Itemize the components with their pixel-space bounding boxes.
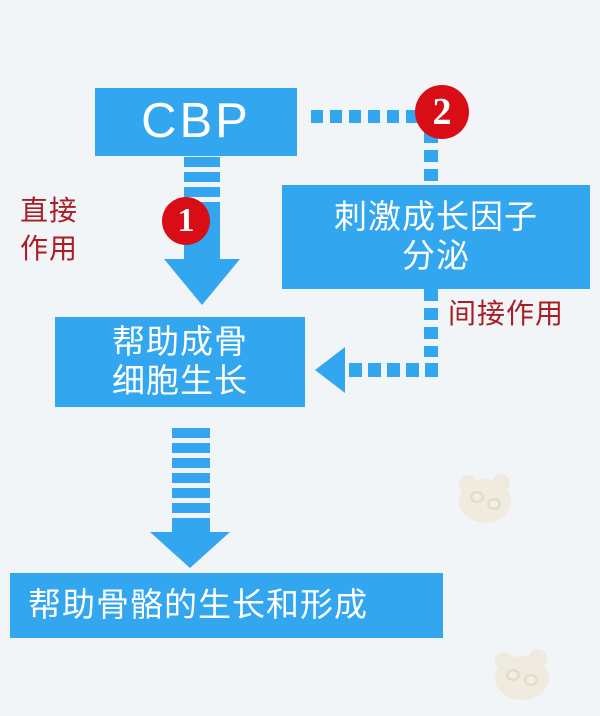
step-badge-2-label: 2 [433,90,452,134]
bear-tablet-icon-1 [455,470,517,533]
box-osteoblast-growth-text: 帮助成骨 细胞生长 [112,323,248,401]
box-osteoblast-growth-line1: 帮助成骨 [112,323,248,360]
box-growth-factor-line1: 刺激成长因子 [334,198,538,235]
box-osteoblast-growth: 帮助成骨 细胞生长 [55,317,305,407]
step-badge-2: 2 [415,85,469,139]
striped-down-arrow-icon-2 [148,428,232,573]
step-badge-1: 1 [162,197,210,245]
box-cbp: CBP [95,88,297,156]
box-osteoblast-growth-line2: 细胞生长 [112,362,248,401]
box-bone-formation: 帮助骨骼的生长和形成 [10,573,443,638]
step-badge-1-label: 1 [178,202,195,240]
box-growth-factor: 刺激成长因子 分泌 [282,185,590,289]
label-indirect-action: 间接作用 [448,295,564,333]
flow-diagram: CBP 2 刺激成长因子 分泌 间接作用 直接 作用 [0,0,600,716]
dashed-connector-cbp-to-growth [311,110,429,123]
dashed-left-arrow-icon [315,345,440,400]
box-growth-factor-line2: 分泌 [334,237,538,276]
dashed-connector-down-to-growth-box [424,131,438,187]
bear-tablet-icon-2 [490,645,556,710]
box-bone-formation-label: 帮助骨骼的生长和形成 [28,586,368,625]
box-cbp-label: CBP [141,93,251,151]
box-growth-factor-text: 刺激成长因子 分泌 [334,198,538,276]
label-direct-action: 直接 作用 [20,192,78,268]
